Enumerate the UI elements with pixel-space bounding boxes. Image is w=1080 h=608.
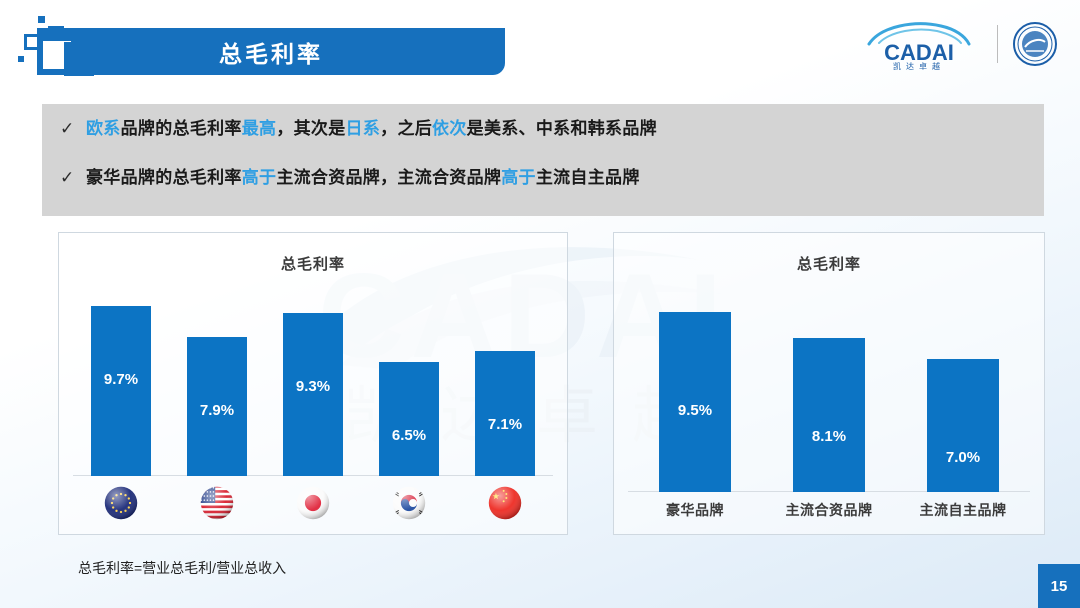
bullet-seg: 主流合资品牌，主流合资品牌 [276, 168, 501, 187]
bar-value-label: 9.7% [91, 371, 151, 388]
category-label: 豪华品牌 [666, 500, 724, 520]
bar-value-label: 7.0% [927, 449, 999, 466]
chart-right-plot: 9.5%8.1%7.0% 豪华品牌主流合资品牌主流自主品牌 [614, 283, 1044, 534]
decorative-squares [16, 14, 88, 78]
bullet-item-1: ✓ 欧系品牌的总毛利率最高，其次是日系，之后依次是美系、中系和韩系品牌 [60, 118, 1044, 140]
bar-value-label: 9.3% [283, 378, 343, 395]
svg-text:凯达卓越: 凯达卓越 [893, 61, 945, 70]
flag-japan-icon [283, 485, 343, 521]
deco-square-3 [24, 34, 40, 50]
bullet-seg: 主流自主品牌 [536, 168, 640, 187]
bullet-text-2: 豪华品牌的总毛利率高于主流合资品牌，主流合资品牌高于主流自主品牌 [86, 167, 640, 189]
bullet-seg: ，之后 [380, 119, 432, 138]
bullet-seg: 是美系、中系和韩系品牌 [467, 119, 657, 138]
bar: 7.9% [187, 337, 247, 476]
bar: 7.1% [475, 351, 535, 476]
category-label: 主流自主品牌 [920, 500, 1007, 520]
bar-slot: 7.1% [475, 283, 535, 476]
bar-value-label: 8.1% [793, 428, 865, 445]
flag-eu-icon [91, 485, 151, 521]
bullet-text-1: 欧系品牌的总毛利率最高，其次是日系，之后依次是美系、中系和韩系品牌 [86, 118, 657, 140]
chart-right-title: 总毛利率 [614, 253, 1044, 274]
category-label: 主流合资品牌 [786, 500, 873, 520]
footnote: 总毛利率=营业总毛利/营业总收入 [78, 558, 286, 578]
flag-usa-icon [187, 485, 247, 521]
page-title: 总毛利率 [219, 35, 323, 69]
bar-value-label: 6.5% [379, 427, 439, 444]
page-number-box: 15 [1038, 564, 1080, 608]
bullet-seg: 品牌的总毛利率 [121, 119, 242, 138]
bar-slot: 9.7% [91, 283, 151, 476]
bar: 7.0% [927, 359, 999, 492]
check-icon: ✓ [60, 118, 86, 140]
category-label-cell: 主流合资品牌 [793, 500, 865, 520]
category-label-cell: 主流自主品牌 [927, 500, 999, 520]
flag-eu-icon [103, 485, 139, 521]
chart-left-categories [73, 478, 553, 528]
bar-value-label: 7.9% [187, 402, 247, 419]
bar-slot: 7.9% [187, 283, 247, 476]
bar: 8.1% [793, 338, 865, 492]
circular-emblem-icon [1012, 21, 1058, 67]
bullet-seg: 依次 [432, 119, 467, 138]
chart-left-bars: 9.7%7.9%9.3%6.5%7.1% [73, 283, 553, 476]
bullet-item-2: ✓ 豪华品牌的总毛利率高于主流合资品牌，主流合资品牌高于主流自主品牌 [60, 167, 1044, 189]
bullet-seg: ，其次是 [276, 119, 345, 138]
bar-slot: 9.3% [283, 283, 343, 476]
bar-slot: 9.5% [659, 283, 731, 492]
bar-slot: 7.0% [927, 283, 999, 492]
flag-china-icon [487, 485, 523, 521]
bar: 9.7% [91, 306, 151, 476]
bullet-seg: 日系 [346, 119, 381, 138]
bar-value-label: 7.1% [475, 416, 535, 433]
bullet-seg: 欧系 [86, 119, 121, 138]
logo-divider [997, 25, 998, 63]
flag-japan-icon [295, 485, 331, 521]
flag-south-korea-icon [379, 485, 439, 521]
check-icon: ✓ [60, 167, 86, 189]
bar: 9.5% [659, 312, 731, 493]
brand-logos: CADAI 凯达卓越 [855, 18, 1058, 70]
slide-canvas: CADAI 凯达卓越 总毛利率 CADAI 凯达卓越 [0, 0, 1080, 608]
bar: 9.3% [283, 313, 343, 476]
bullet-seg: 豪华品牌的总毛利率 [86, 168, 242, 187]
bar-slot: 6.5% [379, 283, 439, 476]
bullet-seg: 高于 [501, 168, 536, 187]
chart-left-plot: 9.7%7.9%9.3%6.5%7.1% [59, 283, 567, 534]
bar: 6.5% [379, 362, 439, 476]
category-label-cell: 豪华品牌 [659, 500, 731, 520]
header-banner: 总毛利率 [37, 28, 505, 75]
bullet-panel: ✓ 欧系品牌的总毛利率最高，其次是日系，之后依次是美系、中系和韩系品牌 ✓ 豪华… [42, 104, 1044, 216]
flag-usa-icon [199, 485, 235, 521]
bullet-seg: 高于 [242, 168, 277, 187]
chart-right-bars: 9.5%8.1%7.0% [628, 283, 1030, 492]
deco-square-6 [64, 42, 94, 76]
bar-value-label: 9.5% [659, 402, 731, 419]
page-number: 15 [1051, 578, 1068, 595]
bullet-seg: 最高 [242, 119, 277, 138]
chart-left-title: 总毛利率 [59, 253, 567, 274]
bar-slot: 8.1% [793, 283, 865, 492]
chart-right-panel: 总毛利率 9.5%8.1%7.0% 豪华品牌主流合资品牌主流自主品牌 [613, 232, 1045, 535]
chart-right-categories: 豪华品牌主流合资品牌主流自主品牌 [628, 494, 1030, 526]
chart-left-panel: 总毛利率 9.7%7.9%9.3%6.5%7.1% [58, 232, 568, 535]
cadai-logo-icon: CADAI 凯达卓越 [855, 18, 983, 70]
flag-south-korea-icon [391, 485, 427, 521]
deco-square-4 [18, 56, 24, 62]
deco-square-1 [38, 16, 45, 23]
flag-china-icon [475, 485, 535, 521]
